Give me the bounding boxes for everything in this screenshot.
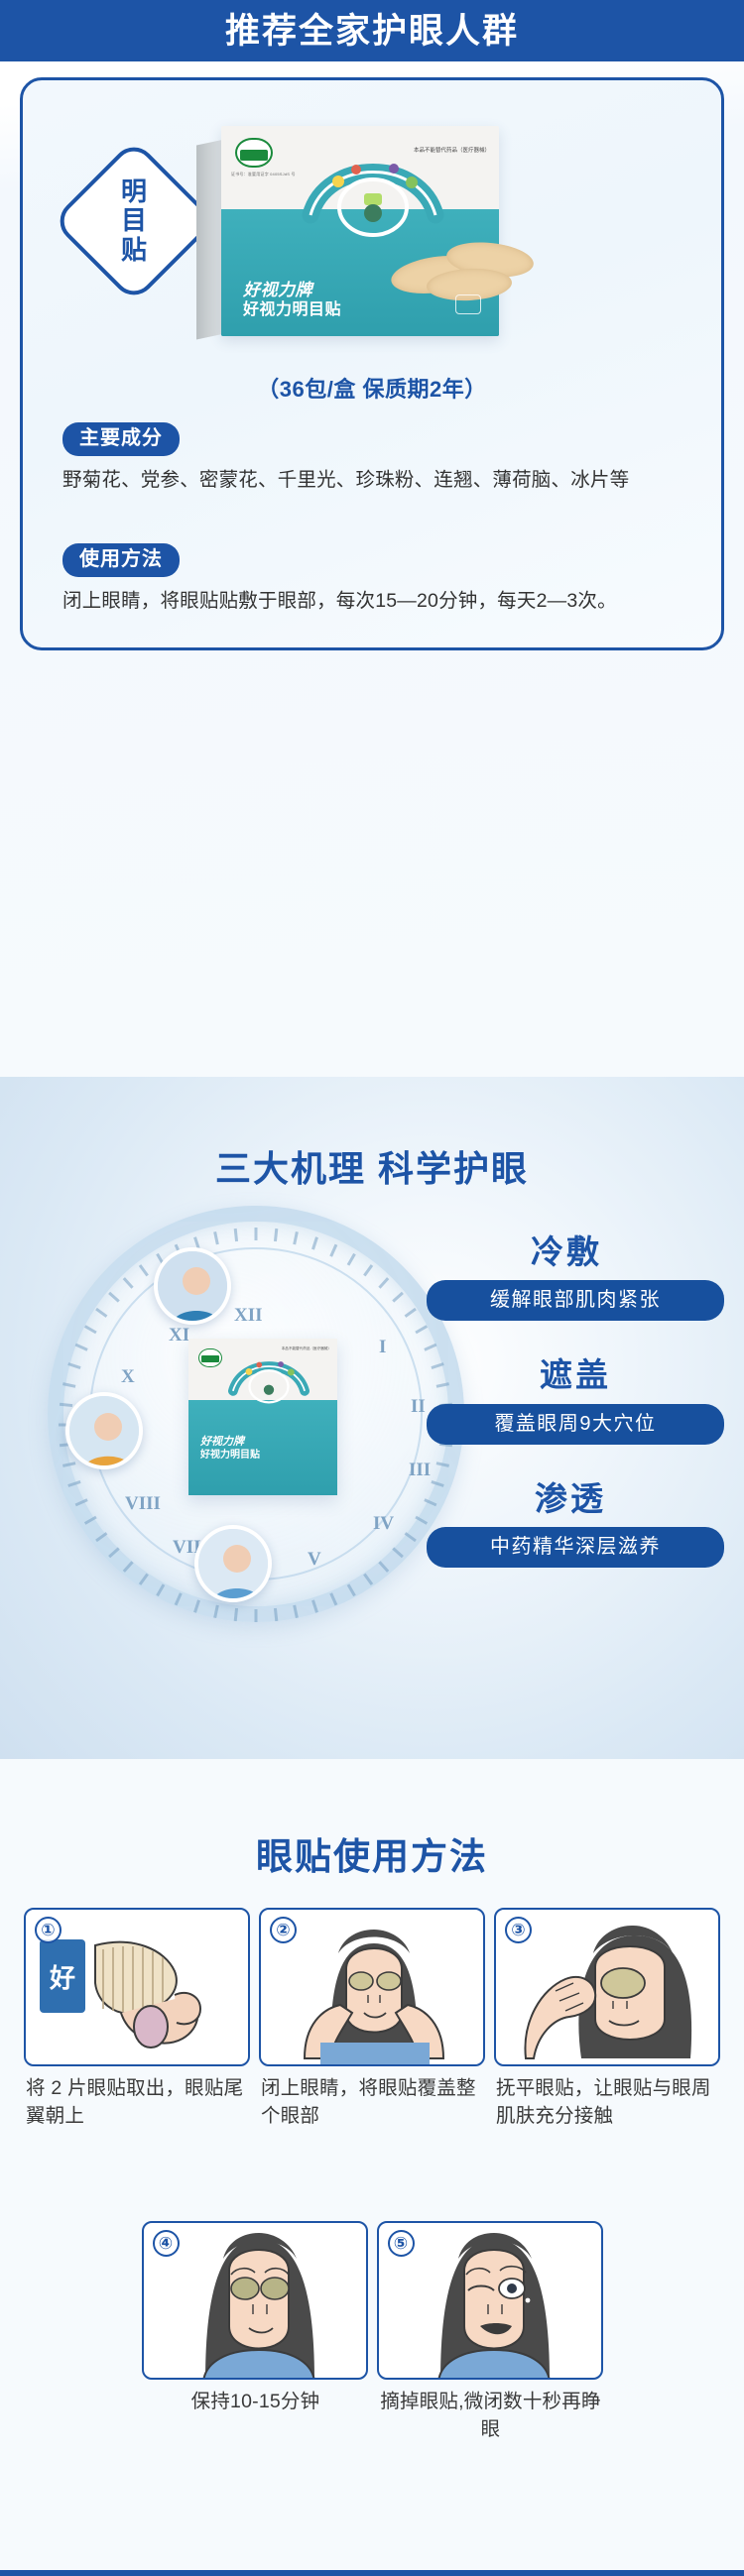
steps-row-2: ④ 保持10-15分钟 [22,2221,722,2443]
clock-numeral-xii: XII [234,1305,263,1327]
step-number-4: ④ [153,2230,180,2257]
header-banner: 推荐全家护眼人群 [0,0,744,61]
clock-tick [378,1277,389,1289]
box-secondary-seal-icon [455,294,481,314]
ingredients-label-pill: 主要成分 [62,422,180,456]
clock-tick [405,1532,417,1542]
step-caption-3: 抚平眼贴，让眼贴与眼周肌肤充分接触 [494,2075,720,2130]
step-number-3: ③ [505,1917,532,1943]
step-number-1: ① [35,1917,62,1943]
clock-tick [255,1609,258,1622]
clock-tick [329,1592,337,1605]
step-image-1: ① 好 [24,1908,250,2066]
step-item-1: ① 好 将 2 片眼贴取出 [24,1908,250,2130]
mechanism-section: 三大机理 科学护眼 I II III IV V VI VII VIII IX X… [0,1077,744,1759]
product-spec: （36包/盒 保质期2年） [23,372,721,404]
footer-divider [0,2570,744,2576]
clock-tick [175,1592,183,1605]
step-image-3: ③ [494,1908,720,2066]
mini-green-seal-icon [198,1348,222,1367]
clock-tick [108,1547,120,1558]
photo-bubble-bottom [194,1525,272,1602]
clock-numeral-x: X [121,1366,135,1388]
clock-tick [62,1382,75,1388]
step-number-5: ⑤ [388,2230,415,2257]
mechanism-item-2: 遮盖 覆盖眼周9大穴位 [427,1354,724,1444]
box-brand-line2: 好视力明目贴 [243,300,341,320]
step-caption-1: 将 2 片眼贴取出，眼贴尾翼朝上 [24,2075,250,2130]
clock-tick [347,1583,356,1596]
clock-numeral-ii: II [411,1396,426,1418]
usage-label-pill: 使用方法 [62,543,180,577]
effects-label-pill: 产品效果 [62,648,180,650]
clock-numeral-xi: XI [169,1325,189,1347]
clock-numeral-iv: IV [373,1513,394,1535]
clock-numeral-viii: VIII [125,1493,161,1515]
certification-code: 证书号：准婴用证字 0405SJdS 号 [231,172,296,177]
clock-tick [67,1362,80,1369]
mechanism-word-1: 冷敷 [427,1231,724,1272]
mechanism-title: 三大机理 科学护眼 [0,1140,744,1192]
mechanism-tag-3: 中药精华深层滋养 [427,1527,724,1568]
clock-tick [234,1229,238,1241]
clock-tick [274,1229,278,1241]
mechanism-word-2: 遮盖 [427,1354,724,1395]
clock-tick [60,1403,72,1407]
clock-tick [255,1228,258,1240]
clock-tick [293,1231,299,1244]
info-block-usage: 使用方法 闭上眼睛，将眼贴贴敷于眼部，每次15—20分钟，每天2—3次。 [62,543,682,616]
clock-tick [84,1325,97,1334]
step-image-2: ② [259,1908,485,2066]
page-title: 推荐全家护眼人群 [225,14,519,49]
step-image-4: ④ [142,2221,368,2380]
green-certification-seal-icon [235,138,273,168]
eye-illustration-icon [299,142,447,237]
clock-tick [293,1605,299,1618]
step-caption-5: 摘掉眼贴,微闭数十秒再睁眼 [377,2389,603,2443]
svg-text:好: 好 [49,1963,75,1993]
clock-tick [156,1583,165,1596]
step-number-2: ② [270,1917,297,1943]
clock-tick [405,1308,417,1318]
clock-tick [84,1516,97,1525]
mechanism-tag-1: 缓解眼部肌肉紧张 [427,1280,724,1321]
box-brand-line1: 好视力牌 [243,280,341,300]
clock-tick [123,1277,134,1289]
clock-tick [213,1605,219,1618]
step-item-2: ② 闭上眼睛，将眼贴覆盖整个眼部 [259,1908,485,2130]
step-caption-2: 闭上眼睛，将眼贴覆盖整个眼部 [259,2075,485,2130]
clock-tick [67,1480,80,1487]
clock-tick [311,1236,318,1249]
clock-numeral-v: V [308,1549,321,1571]
diamond-badge-shape [52,139,217,304]
clock-tick [193,1599,200,1612]
clock-tick [234,1608,238,1621]
product-box-illustration: 证书号：准婴用证字 0405SJdS 号 本品不能替代药品（医疗器械） [196,118,554,356]
ingredients-text: 野菊花、党参、密蒙花、千里光、珍珠粉、连翘、薄荷脑、冰片等 [62,465,682,495]
steps-title: 眼贴使用方法 [0,1826,744,1880]
clock-tick [347,1253,356,1266]
mechanism-product-box: 本品不能替代药品（医疗器械） 好视力牌 好视力明目贴 [188,1339,337,1495]
product-card: 明 目 贴 证书号：准婴用证字 0405SJdS 号 本品不能替代药品（医疗器械… [20,77,724,650]
box-brand-text: 好视力牌 好视力明目贴 [243,280,341,320]
clock-tick [363,1574,373,1585]
clock-tick [75,1344,88,1351]
photo-bubble-left [65,1392,143,1469]
step-caption-4: 保持10-15分钟 [142,2389,368,2416]
clock-tick [95,1308,107,1318]
photo-bubble-top [154,1247,231,1325]
step-item-4: ④ 保持10-15分钟 [142,2221,368,2443]
product-section: 明 目 贴 证书号：准婴用证字 0405SJdS 号 本品不能替代药品（医疗器械… [0,61,744,1077]
clock-tick [95,1532,107,1542]
steps-row-1: ① 好 将 2 片眼贴取出 [22,1908,722,2130]
mini-brand-line2: 好视力明目贴 [200,1449,260,1462]
mechanism-word-3: 渗透 [427,1478,724,1519]
clock-tick [363,1264,373,1276]
box-front-panel: 证书号：准婴用证字 0405SJdS 号 本品不能替代药品（医疗器械） [221,126,499,336]
info-block-effects: 产品效果 用于缓解视力疲劳，保持眼部湿润。对眼睛干、涩、痒等不适具有保健作用。 [62,648,682,650]
clock-tick [108,1292,120,1303]
clock-tick [213,1231,219,1244]
box-side-panel [196,140,222,340]
clock-numeral-i: I [379,1337,386,1358]
clock-tick [62,1462,75,1467]
mini-box-brand: 好视力牌 好视力明目贴 [200,1435,260,1462]
clock-tick [392,1547,404,1558]
mini-brand-line1: 好视力牌 [200,1435,260,1449]
mechanism-item-1: 冷敷 缓解眼部肌肉紧张 [427,1231,724,1321]
steps-section: 眼贴使用方法 ① 好 [0,1759,744,2576]
mechanism-item-3: 渗透 中药精华深层滋养 [427,1478,724,1568]
step-item-3: ③ 抚平眼贴，让眼贴与眼周肌肤充分接触 [494,1908,720,2130]
step-item-5: ⑤ 摘掉眼 [377,2221,603,2443]
info-block-ingredients: 主要成分 野菊花、党参、密蒙花、千里光、珍珠粉、连翘、薄荷脑、冰片等 [62,422,682,495]
mini-eye-illustration-icon [226,1348,311,1404]
usage-text: 闭上眼睛，将眼贴贴敷于眼部，每次15—20分钟，每天2—3次。 [62,586,682,616]
product-detail-page: 推荐全家护眼人群 明 目 贴 证书号：准婴用证字 0405SJdS 号 本品不能… [0,0,744,2576]
mechanism-tag-2: 覆盖眼周9大穴位 [427,1404,724,1445]
clock-tick [329,1244,337,1257]
clock-tick [392,1292,404,1303]
clock-tick [139,1574,149,1585]
clock-tick [378,1561,389,1573]
clock-tick [274,1608,278,1621]
clock-tick [311,1599,318,1612]
clock-tick [139,1264,149,1276]
clock-tick [123,1561,134,1573]
step-image-5: ⑤ [377,2221,603,2380]
mechanism-list: 冷敷 缓解眼部肌肉紧张 遮盖 覆盖眼周9大穴位 渗透 中药精华深层滋养 [427,1231,724,1601]
clock-tick [75,1498,88,1506]
